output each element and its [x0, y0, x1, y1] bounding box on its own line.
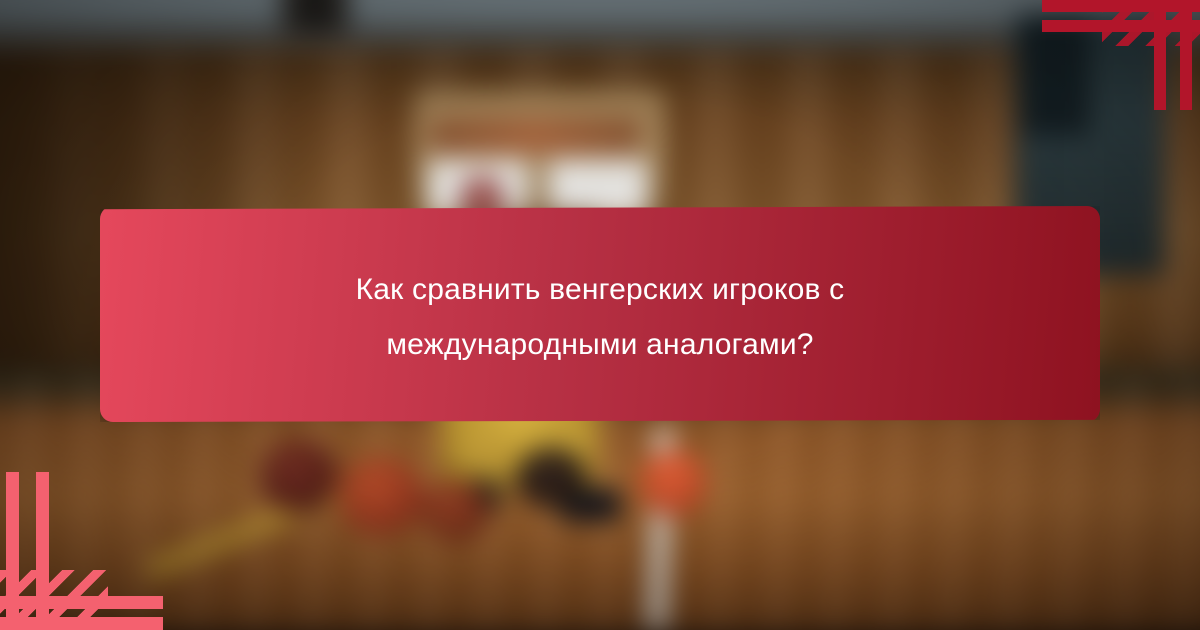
page-title: Как сравнить венгерских игроков с междун… [356, 256, 845, 373]
deco-hatch-top-right [1102, 0, 1200, 46]
corner-bracket-top-right [1040, 0, 1200, 110]
deco-hatch-bottom-left [0, 570, 108, 630]
corner-bracket-bottom-left [0, 470, 165, 630]
title-card: Как сравнить венгерских игроков с междун… [100, 206, 1100, 422]
page-title-line-2: международными аналогами? [386, 328, 813, 361]
slide-canvas: Как сравнить венгерских игроков с междун… [0, 0, 1200, 630]
page-title-line-1: Как сравнить венгерских игроков с [356, 273, 845, 306]
